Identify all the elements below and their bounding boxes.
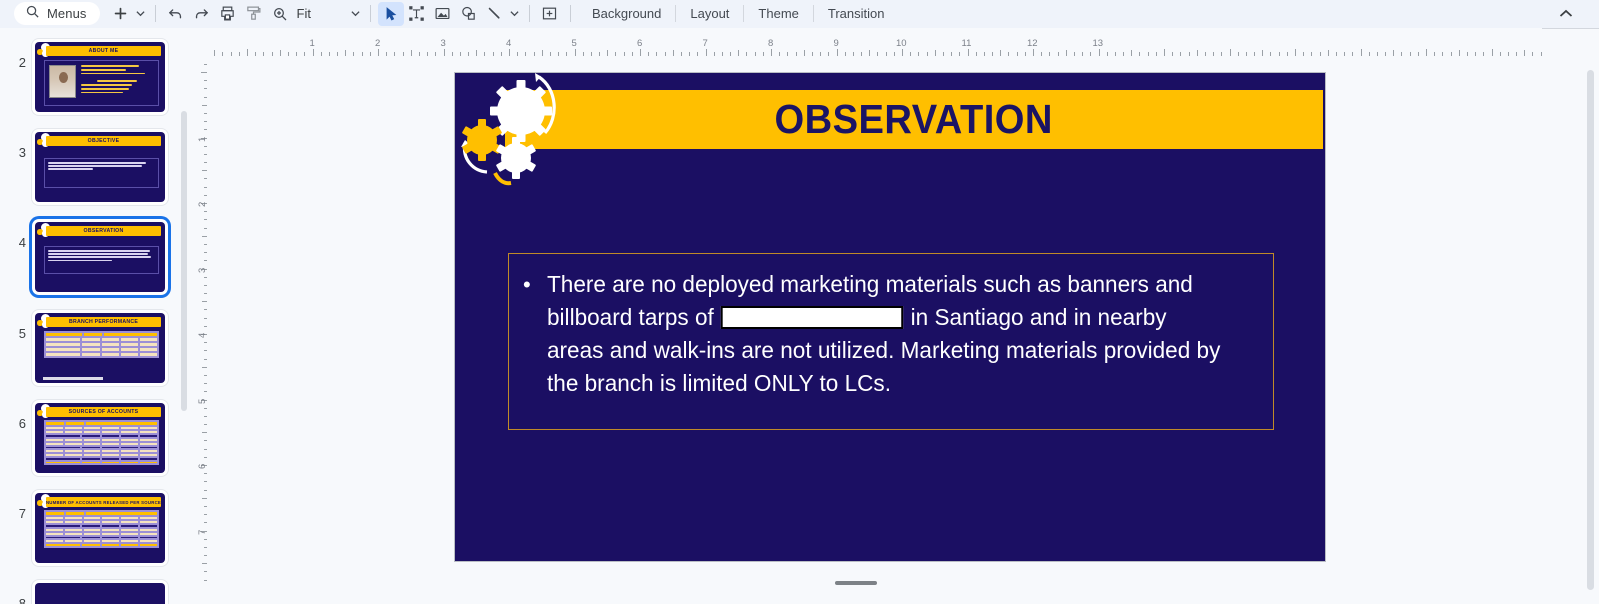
ruler-tick <box>1426 49 1427 56</box>
slide-thumb-title: ABOUT ME <box>46 46 161 56</box>
ruler-tick <box>1361 49 1362 56</box>
slide-canvas-area[interactable]: OBSERVATION <box>207 56 1542 604</box>
slide-thumb-title: BRANCH PERFORMANCE <box>46 317 161 327</box>
zoom-dropdown-icon[interactable] <box>349 2 363 26</box>
ruler-label: 13 <box>1093 38 1104 49</box>
bullet-lines <box>45 159 158 175</box>
list-item[interactable]: 5 BRANCH PERFORMANCE <box>0 310 168 386</box>
line-button[interactable] <box>482 2 508 26</box>
redacted-block <box>721 306 903 329</box>
zoom-level-label[interactable]: Fit <box>297 6 311 21</box>
bullet-glyph: • <box>523 268 547 400</box>
slide-thumbnail-4[interactable]: OBSERVATION <box>32 219 168 295</box>
slide-thumbnail-7[interactable]: NUMBER OF ACCOUNTS RELEASED PER SOURCE <box>32 490 168 566</box>
ruler-tick <box>1295 49 1296 56</box>
ruler-tick <box>1033 49 1034 56</box>
redo-button[interactable] <box>189 2 215 26</box>
slide-thumbnail-panel[interactable]: 2 ABOUT ME <box>0 29 192 604</box>
ruler-tick <box>837 49 838 56</box>
slide-title-banner[interactable]: OBSERVATION <box>505 90 1323 149</box>
mini-table <box>44 331 159 358</box>
toolbar-divider <box>155 5 156 22</box>
undo-button[interactable] <box>163 2 189 26</box>
ruler-tick <box>1164 49 1165 56</box>
list-item[interactable]: 3 OBJECTIVE <box>0 129 168 205</box>
chevron-down-icon[interactable] <box>134 2 148 26</box>
ruler-tick <box>313 49 314 56</box>
ruler-tick <box>706 49 707 56</box>
menu-theme[interactable]: Theme <box>744 0 812 28</box>
ruler-label: 3 <box>441 38 446 49</box>
menu-transition[interactable]: Transition <box>814 0 899 28</box>
list-item[interactable]: 8 <box>0 580 168 604</box>
text-box-button[interactable] <box>404 2 430 26</box>
bullet-lines <box>45 247 158 266</box>
ruler-label: 9 <box>834 38 839 49</box>
slide-number: 8 <box>0 580 32 604</box>
ruler-tick <box>771 49 772 56</box>
list-item[interactable]: 6 SOURCES OF ACCOUNTS <box>0 400 168 476</box>
page-title: OBSERVATION <box>775 96 1053 143</box>
toolbar-divider <box>370 5 371 22</box>
menus-label: Menus <box>47 6 87 21</box>
slide-body-textbox[interactable]: • There are no deployed marketing materi… <box>508 253 1274 430</box>
toolbar-right-divider <box>1542 28 1599 29</box>
slide-thumbnail-2[interactable]: ABOUT ME <box>32 39 168 115</box>
ruler-label: 7 <box>703 38 708 49</box>
panel-scrollbar[interactable] <box>181 111 187 411</box>
shape-button[interactable] <box>456 2 482 26</box>
ruler-label: 2 <box>375 38 380 49</box>
menus-button[interactable]: Menus <box>14 2 100 25</box>
slide-thumb-title: OBSERVATION <box>46 226 161 236</box>
slide-thumb-title: SOURCES OF ACCOUNTS <box>46 407 161 417</box>
ruler-tick <box>640 49 641 56</box>
ruler-tick <box>509 49 510 56</box>
line-dropdown-icon[interactable] <box>508 2 522 26</box>
ruler-label: 5 <box>572 38 577 49</box>
ruler-label: 4 <box>506 38 511 49</box>
slide-thumb-title: NUMBER OF ACCOUNTS RELEASED PER SOURCE <box>46 497 161 507</box>
mini-table <box>44 510 159 548</box>
add-comment-button[interactable] <box>537 2 563 26</box>
print-button[interactable] <box>215 2 241 26</box>
slide-thumbnail-3[interactable]: OBJECTIVE <box>32 129 168 205</box>
ruler-label: 1 <box>310 38 315 49</box>
profile-info <box>81 65 154 95</box>
ruler-label: 12 <box>1027 38 1038 49</box>
list-item[interactable]: 4 OBSERVATION <box>0 219 168 295</box>
gears-decoration-icon <box>451 67 571 197</box>
ruler-label: 8 <box>768 38 773 49</box>
profile-photo <box>49 65 76 98</box>
mini-footer-text <box>43 377 103 380</box>
ruler-tick <box>247 49 248 56</box>
slide-body-text: There are no deployed marketing material… <box>547 268 1229 400</box>
collapse-toolbar-button[interactable] <box>1543 2 1589 26</box>
slide-thumb-title: OBJECTIVE <box>46 136 161 146</box>
slide-number: 7 <box>0 490 32 521</box>
top-toolbar: Menus Fit <box>0 0 1599 28</box>
ruler-tick <box>968 49 969 56</box>
slide-resize-handle[interactable] <box>835 581 877 585</box>
ruler-tick <box>1099 49 1100 56</box>
slide-number: 3 <box>0 129 32 160</box>
ruler-label: 6 <box>637 38 642 49</box>
list-item[interactable]: 7 NUMBER OF ACCOUNTS RELEASED PER SOURCE <box>0 490 168 566</box>
slide-number: 4 <box>0 219 32 250</box>
ruler-tick <box>1230 49 1231 56</box>
ruler-label: 10 <box>896 38 907 49</box>
horizontal-ruler[interactable]: 12345678910111213 <box>207 38 1542 56</box>
slide-thumbnail-8[interactable] <box>32 580 168 604</box>
slide-thumbnail-5[interactable]: BRANCH PERFORMANCE <box>32 310 168 386</box>
menu-layout[interactable]: Layout <box>676 0 743 28</box>
toolbar-divider <box>529 5 530 22</box>
search-icon <box>25 4 40 24</box>
list-item[interactable]: 2 ABOUT ME <box>0 39 168 115</box>
ruler-tick <box>378 49 379 56</box>
slide-thumbnail-6[interactable]: SOURCES OF ACCOUNTS <box>32 400 168 476</box>
ruler-tick <box>444 49 445 56</box>
main-scrollbar[interactable] <box>1587 70 1594 590</box>
ruler-tick <box>1492 49 1493 56</box>
menu-background[interactable]: Background <box>578 0 675 28</box>
select-tool-button[interactable] <box>378 2 404 26</box>
insert-image-button[interactable] <box>430 2 456 26</box>
format-paint-button[interactable] <box>241 2 267 26</box>
mini-table <box>44 420 159 465</box>
toolbar-divider <box>570 5 571 22</box>
slide-number: 5 <box>0 310 32 341</box>
slide-number: 6 <box>0 400 32 431</box>
zoom-button[interactable] <box>267 2 293 26</box>
insert-add-button[interactable] <box>108 2 134 26</box>
current-slide[interactable]: OBSERVATION <box>454 72 1326 562</box>
chevron-up-icon <box>1559 5 1573 23</box>
ruler-label: 11 <box>962 38 972 49</box>
slide-number: 2 <box>0 39 32 70</box>
ruler-tick <box>902 49 903 56</box>
ruler-tick <box>575 49 576 56</box>
